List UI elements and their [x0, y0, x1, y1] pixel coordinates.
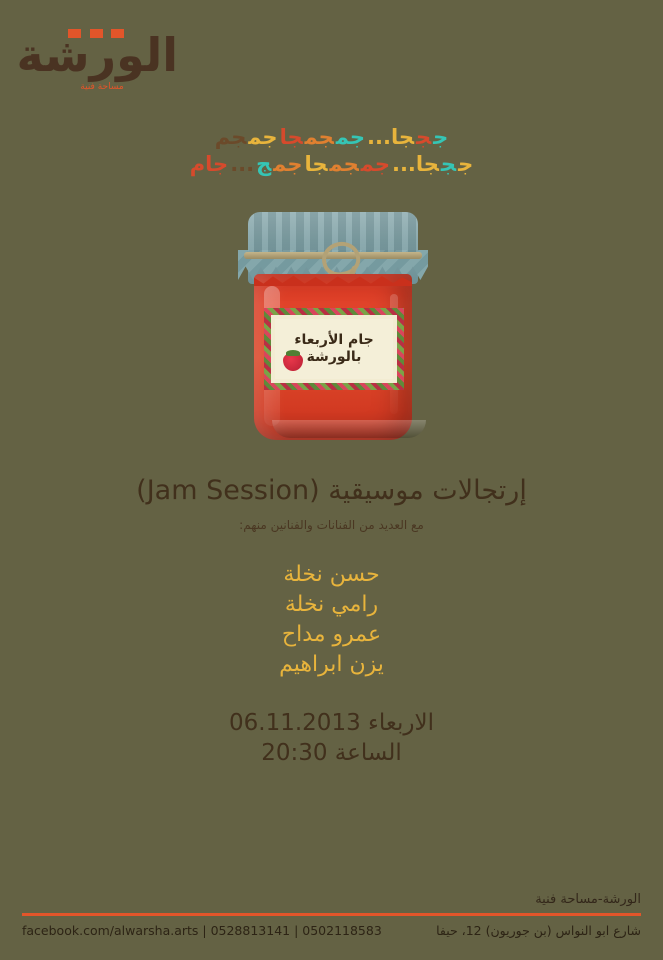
poster-canvas: الورشة مساحة فنية جججا...جمجمجاجمجم جججا…	[0, 0, 663, 960]
chant-token: ج	[415, 125, 432, 149]
event-time: الساعة 20:30	[0, 738, 663, 768]
artist-list: حسن نخلةرامي نخلةعمرو مداحيزن ابراهيم	[0, 560, 663, 680]
chant-token: جا...	[391, 152, 440, 176]
artist-name: حسن نخلة	[0, 560, 663, 590]
logo-wordmark: الورشة	[28, 30, 178, 80]
chant-token: جم	[247, 125, 278, 149]
event-date: الاربعاء 06.11.2013	[0, 708, 663, 738]
chant-token: جا...	[366, 125, 415, 149]
footer-tagline: الورشة-مساحة فنية	[0, 891, 663, 909]
chant-token: ج	[457, 152, 474, 176]
chant-token: جم	[214, 125, 248, 149]
jar-label-line-1: جام الأربعاء	[294, 332, 373, 349]
chant-token: جا	[279, 125, 304, 149]
jar-base	[272, 420, 426, 438]
strawberry-icon	[283, 353, 303, 371]
chant-line-2: جججا...جمجمجاجمج...جام	[0, 151, 663, 178]
chant-token: جام	[189, 152, 229, 176]
footer-contact: facebook.com/alwarsha.arts | 0528813141 …	[0, 916, 663, 938]
footer-contact-links[interactable]: facebook.com/alwarsha.arts | 0528813141 …	[22, 923, 382, 938]
chant-token: جم	[304, 125, 335, 149]
page-title: إرتجالات موسيقية (Jam Session)	[0, 474, 663, 508]
chant-token: ...	[229, 152, 255, 176]
jar-label: جام الأربعاء بالورشة	[264, 308, 404, 390]
artist-name: يزن ابراهيم	[0, 650, 663, 680]
chant-token: ج	[432, 125, 449, 149]
chant-token: جم	[329, 152, 360, 176]
chant-token: جم	[272, 152, 303, 176]
jam-chant-text: جججا...جمجمجاجمجم جججا...جمجمجاجمج...جام	[0, 124, 663, 178]
footer-address: شارع ابو النواس (بن جوريون) 12، حيفا	[436, 923, 641, 938]
jar-label-line-2: بالورشة	[307, 349, 362, 366]
chant-line-1: جججا...جمجمجاجمجم	[0, 124, 663, 151]
alwarsha-logo: الورشة مساحة فنية	[28, 22, 178, 98]
jam-surface	[254, 274, 412, 286]
footer: الورشة-مساحة فنية facebook.com/alwarsha.…	[0, 891, 663, 938]
title-block: إرتجالات موسيقية (Jam Session) مع العديد…	[0, 474, 663, 533]
chant-token: جم	[335, 125, 366, 149]
page-subtitle: مع العديد من الفنانات والفنانين منهم:	[0, 517, 663, 533]
event-datetime: الاربعاء 06.11.2013 الساعة 20:30	[0, 708, 663, 768]
logo-subtitle: مساحة فنية	[46, 82, 158, 92]
chant-token: ج	[255, 152, 272, 176]
chant-token: جا	[304, 152, 329, 176]
artist-name: رامي نخلة	[0, 590, 663, 620]
artist-name: عمرو مداح	[0, 620, 663, 650]
chant-token: ج	[440, 152, 457, 176]
chant-token: جم	[360, 152, 391, 176]
jar-label-inner: جام الأربعاء بالورشة	[275, 319, 393, 379]
jam-jar-illustration: جام الأربعاء بالورشة	[238, 212, 428, 442]
